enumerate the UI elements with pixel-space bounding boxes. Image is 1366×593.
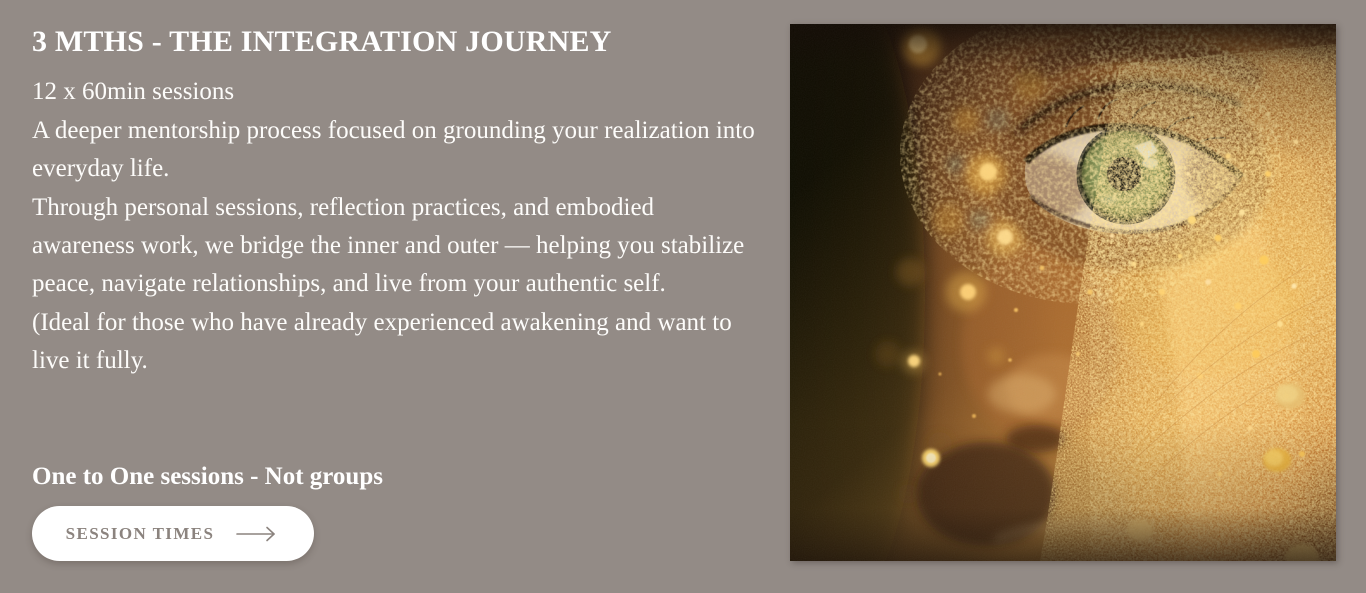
description-line-4: (Ideal for those who have already experi…	[32, 304, 756, 381]
description-line-1: 12 x 60min sessions	[32, 73, 756, 111]
description-line-2: A deeper mentorship process focused on g…	[32, 112, 756, 189]
description-block: 12 x 60min sessions A deeper mentorship …	[32, 73, 756, 380]
session-times-button[interactable]: SESSION TIMES	[32, 506, 314, 561]
integration-journey-section: 3 MTHS - THE INTEGRATION JOURNEY 12 x 60…	[0, 0, 1366, 593]
golden-glitter-eye-photo	[790, 24, 1336, 561]
text-column: 3 MTHS - THE INTEGRATION JOURNEY 12 x 60…	[32, 24, 756, 381]
description-line-3: Through personal sessions, reflection pr…	[32, 189, 756, 304]
page-title: 3 MTHS - THE INTEGRATION JOURNEY	[32, 24, 756, 59]
session-format-note: One to One sessions - Not groups	[32, 462, 383, 492]
arrow-right-icon	[236, 526, 280, 542]
session-times-label: SESSION TIMES	[66, 524, 215, 544]
